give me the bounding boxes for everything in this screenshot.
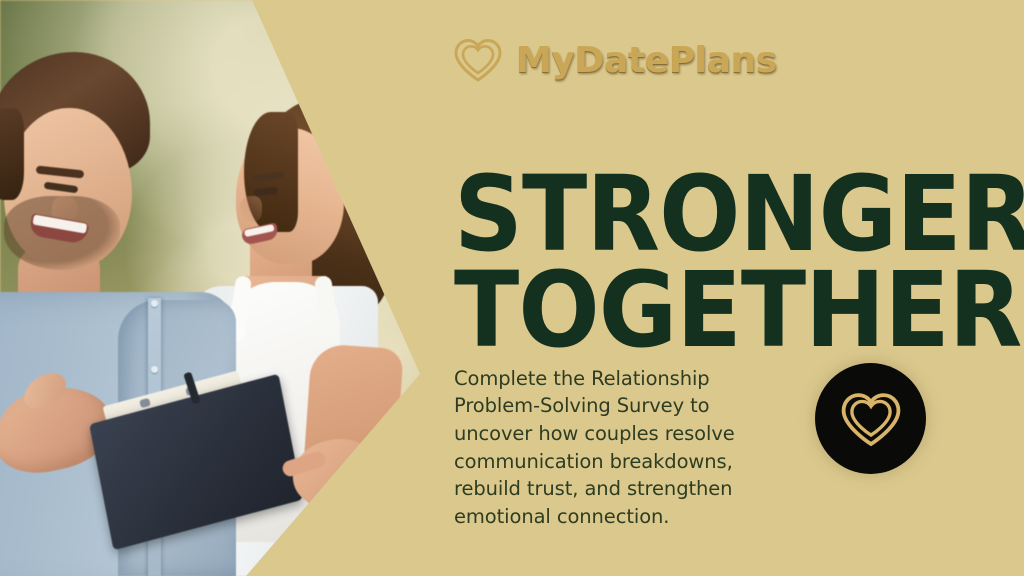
body-description: Complete the Relationship Problem-Solvin…: [454, 365, 766, 531]
couple-photo: [0, 0, 430, 576]
brand-logo[interactable]: MyDatePlans: [452, 36, 777, 84]
couple-figures: [0, 0, 430, 576]
heart-outline-icon: [452, 36, 504, 84]
brand-name: MyDatePlans: [516, 40, 777, 81]
heart-outline-icon: [840, 390, 902, 448]
man-hair-side: [0, 108, 24, 200]
page-title: STRONGER TOGETHER:: [454, 166, 886, 359]
woman-nose: [240, 196, 262, 222]
headline-line-2: TOGETHER:: [454, 262, 886, 359]
promo-banner: MyDatePlans STRONGER TOGETHER: Complete …: [0, 0, 1024, 576]
headline-line-1: STRONGER: [454, 166, 886, 263]
shirt-button: [151, 300, 158, 307]
heart-badge: [815, 363, 926, 474]
shirt-button: [151, 366, 158, 373]
banner-content: MyDatePlans STRONGER TOGETHER: Complete …: [452, 0, 1024, 576]
